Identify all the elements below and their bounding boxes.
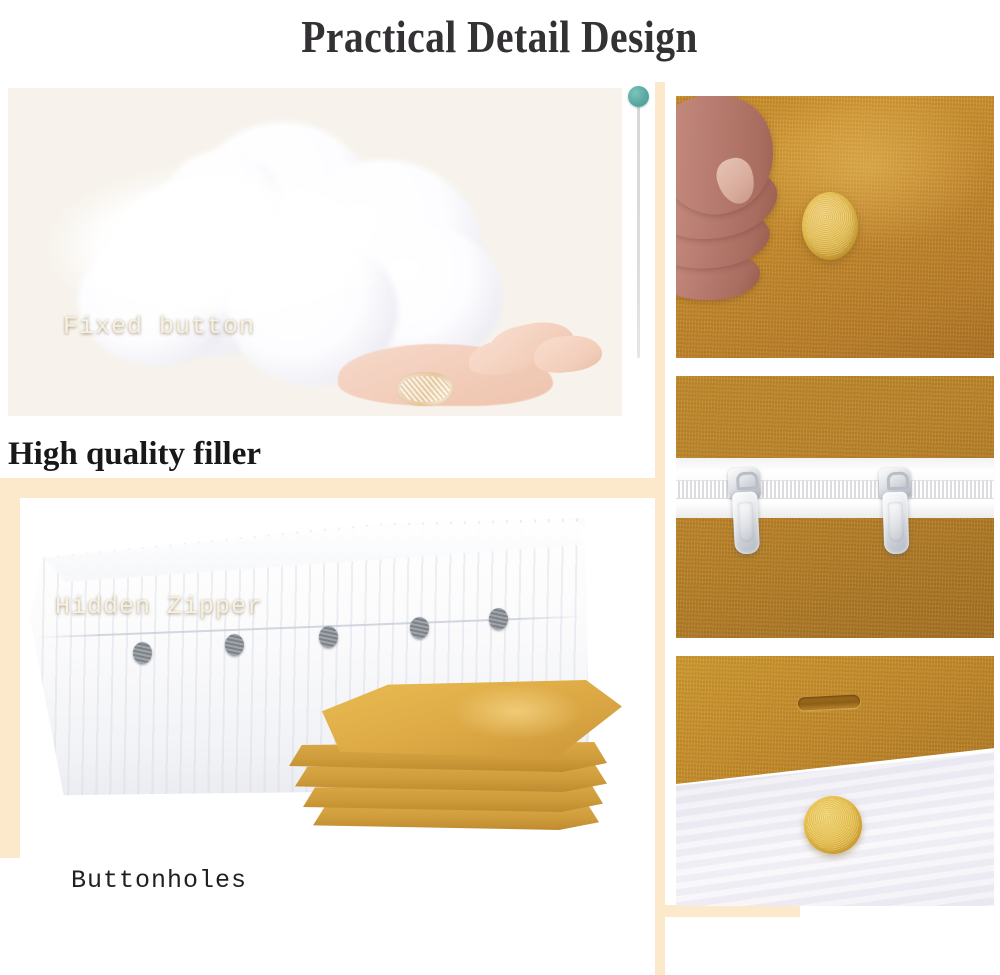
filler-headline: High quality filler: [8, 436, 261, 473]
caption-fixed-button: Fixed button: [0, 312, 318, 341]
page-title: Practical Detail Design: [302, 10, 699, 63]
wedge-pillow-with-cover-photo: [22, 500, 662, 870]
pin-stem: [637, 100, 640, 358]
hand-graphic: [338, 320, 618, 416]
zipper-pull: [876, 467, 913, 558]
infographic-page: Practical Detail Design High quality fil…: [0, 0, 1000, 975]
caption-buttonholes: Buttonholes: [0, 866, 318, 895]
pillow-button: [133, 642, 152, 664]
pillow-button: [489, 608, 508, 630]
cover-sheen: [442, 686, 592, 750]
panel-fixed-button: [676, 96, 994, 358]
title-bar: Practical Detail Design: [0, 0, 1000, 72]
pillow-button: [225, 634, 244, 656]
hand-holding-button-graphic: [676, 102, 820, 312]
zipper-pull: [726, 467, 765, 559]
cotton-wisp-overlay: [8, 128, 438, 343]
covered-button-graphic: [804, 796, 862, 854]
zipper-pull-tab: [882, 492, 909, 555]
zipper-teeth: [676, 480, 994, 499]
folded-velvet-cover-graphic: [277, 680, 622, 845]
pp-cotton-filler-photo: [8, 88, 622, 416]
caption-hidden-zipper: Hidden Zipper: [0, 592, 318, 621]
pillow-button: [410, 617, 429, 639]
zipper-pull-tab: [732, 491, 760, 554]
bracelet-graphic: [396, 372, 454, 406]
pillow-button: [319, 626, 338, 648]
covered-button-graphic: [802, 192, 858, 260]
bottom-right-corner-accent: [800, 905, 1000, 975]
right-column-frame-stripe: [655, 82, 665, 975]
pin-head-icon: [628, 86, 649, 107]
panel-hidden-zipper: [676, 376, 994, 638]
panel-buttonholes: [676, 656, 994, 906]
